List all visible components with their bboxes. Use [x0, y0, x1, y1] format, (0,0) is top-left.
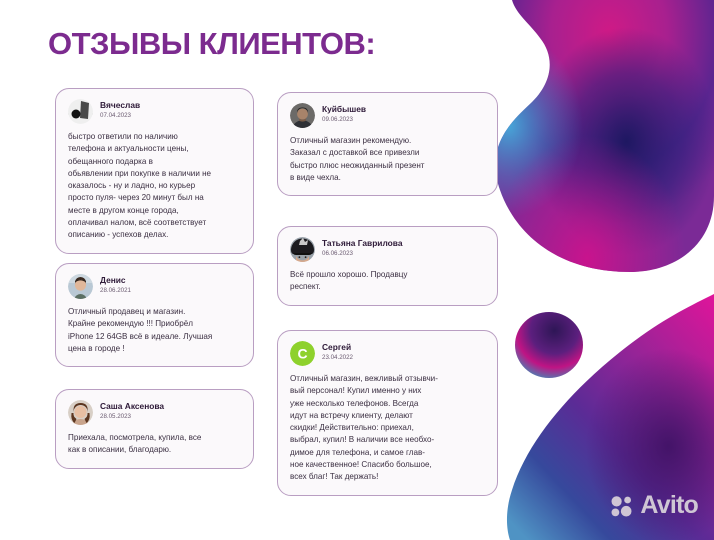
- reviewer-name: Денис: [100, 276, 131, 285]
- avatar: [290, 237, 315, 262]
- reviewer-info: Вячеслав 07.04.2023: [100, 99, 140, 121]
- avito-logo: Avito: [611, 493, 698, 518]
- review-header: Саша Аксенова 28.05.2023: [68, 400, 241, 425]
- review-header: Куйбышев 09.06.2023: [290, 103, 485, 128]
- reviewer-name: Вячеслав: [100, 101, 140, 110]
- review-text: Отличный магазин рекомендую. Заказал с д…: [290, 135, 485, 184]
- avatar: [290, 103, 315, 128]
- review-text: Всё прошло хорошо. Продавцу респект.: [290, 269, 485, 294]
- review-header: Денис 28.06.2021: [68, 274, 241, 299]
- review-date: 28.05.2023: [100, 412, 164, 421]
- avatar: [68, 400, 93, 425]
- review-text: Отличный продавец и магазин. Крайне реко…: [68, 306, 241, 355]
- avito-mark-icon: [611, 495, 635, 517]
- reviewer-name: Саша Аксенова: [100, 402, 164, 411]
- avatar: [68, 274, 93, 299]
- review-card-tatyana[interactable]: Татьяна Гаврилова 06.06.2023 Всё прошло …: [277, 226, 498, 306]
- review-text: быстро ответили по наличию телефона и ак…: [68, 131, 241, 242]
- reviewer-name: Сергей: [322, 343, 353, 352]
- review-date: 09.06.2023: [322, 115, 366, 124]
- reviewer-info: Саша Аксенова 28.05.2023: [100, 400, 164, 422]
- avatar-initial: C: [290, 341, 315, 366]
- review-card-kuibyshev[interactable]: Куйбышев 09.06.2023 Отличный магазин рек…: [277, 92, 498, 196]
- review-header: Вячеслав 07.04.2023: [68, 99, 241, 124]
- reviewer-name: Татьяна Гаврилова: [322, 239, 402, 248]
- review-header: C Сергей 23.04.2022: [290, 341, 485, 366]
- review-date: 28.06.2021: [100, 286, 131, 295]
- review-date: 23.04.2022: [322, 353, 353, 362]
- svg-text:C: C: [297, 345, 307, 361]
- reviews-container: Вячеслав 07.04.2023 быстро ответили по н…: [0, 0, 714, 540]
- review-header: Татьяна Гаврилова 06.06.2023: [290, 237, 485, 262]
- reviewer-info: Сергей 23.04.2022: [322, 341, 353, 363]
- review-card-vyacheslav[interactable]: Вячеслав 07.04.2023 быстро ответили по н…: [55, 88, 254, 254]
- avatar: [68, 99, 93, 124]
- review-card-sergey[interactable]: C Сергей 23.04.2022 Отличный магазин, ве…: [277, 330, 498, 496]
- avito-wordmark: Avito: [640, 493, 698, 518]
- review-card-sasha[interactable]: Саша Аксенова 28.05.2023 Приехала, посмо…: [55, 389, 254, 469]
- reviewer-info: Куйбышев 09.06.2023: [322, 103, 366, 125]
- reviewer-info: Татьяна Гаврилова 06.06.2023: [322, 237, 402, 259]
- review-text: Отличный магазин, вежливый отзывчи- вый …: [290, 373, 485, 484]
- review-date: 07.04.2023: [100, 111, 140, 120]
- reviewer-name: Куйбышев: [322, 105, 366, 114]
- reviewer-info: Денис 28.06.2021: [100, 274, 131, 296]
- review-text: Приехала, посмотрела, купила, все как в …: [68, 432, 241, 457]
- review-card-denis[interactable]: Денис 28.06.2021 Отличный продавец и маг…: [55, 263, 254, 367]
- review-date: 06.06.2023: [322, 249, 402, 258]
